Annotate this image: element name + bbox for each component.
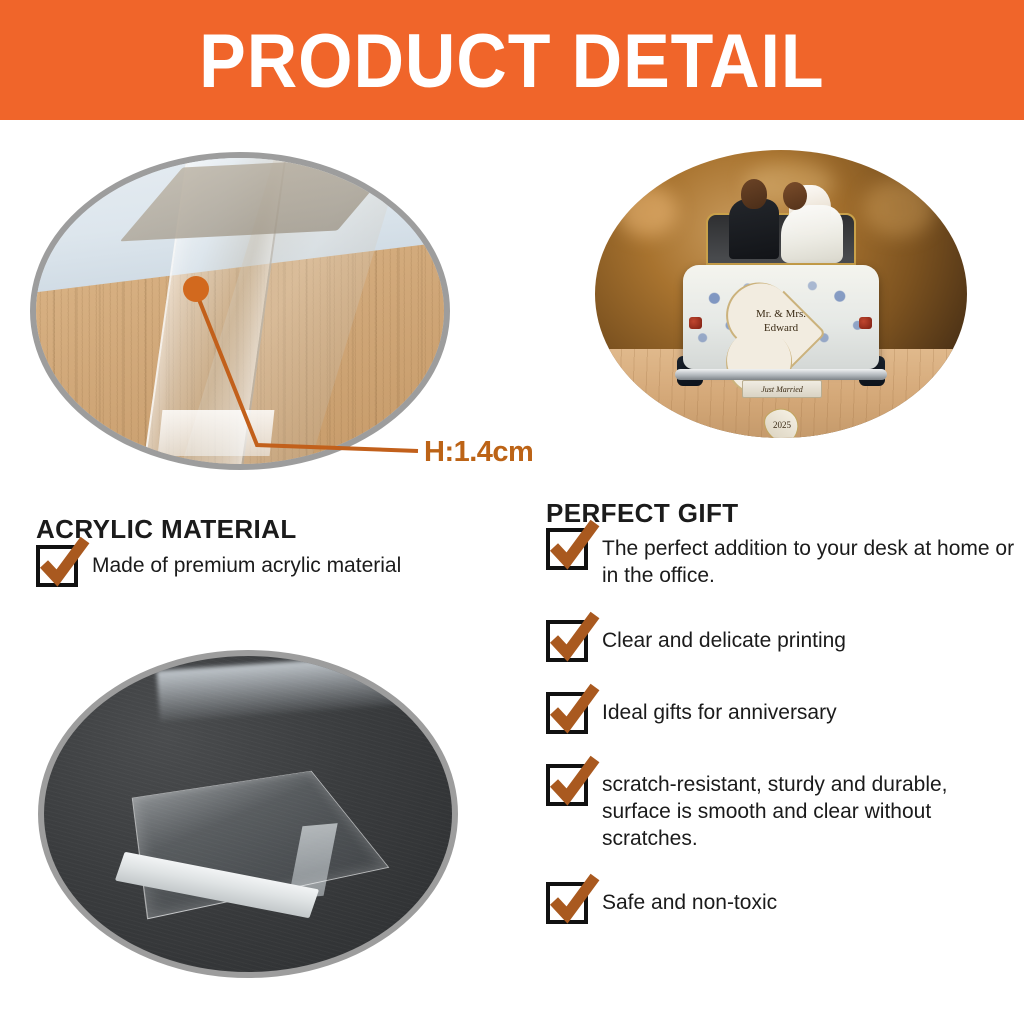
list-item-label: The perfect addition to your desk at hom… [602, 528, 1016, 590]
list-item-label: scratch-resistant, sturdy and durable, s… [602, 764, 1016, 853]
checkmark-icon [546, 882, 588, 924]
header-banner: PRODUCT DETAIL [0, 0, 1024, 120]
charm-year-text: 2025 [773, 420, 791, 430]
list-item-label: Ideal gifts for anniversary [602, 692, 837, 726]
heart-plaque-text: Mr. & Mrs. Edward [735, 308, 827, 336]
car-bumper [675, 369, 887, 380]
list-item: Made of premium acrylic material [36, 545, 536, 587]
list-item: scratch-resistant, sturdy and durable, s… [546, 764, 1016, 853]
list-item: The perfect addition to your desk at hom… [546, 528, 1016, 590]
checkmark-icon [546, 764, 588, 806]
acrylic-block-photo [38, 650, 458, 978]
checkmark-icon [546, 692, 588, 734]
heart-plaque-line1: Mr. & Mrs. [735, 308, 827, 322]
feature-list-perfect-gift: The perfect addition to your desk at hom… [546, 528, 1016, 954]
checkmark-icon [546, 528, 588, 570]
list-item-label: Clear and delicate printing [602, 620, 846, 654]
checkmark-icon [546, 620, 588, 662]
license-plate: Just Married [742, 380, 822, 398]
wedding-car-figurine-photo: Mr. & Mrs. Edward Just Married 2025 [595, 150, 967, 438]
bride-head [783, 182, 807, 210]
list-item: Clear and delicate printing [546, 620, 1016, 662]
list-item: Ideal gifts for anniversary [546, 692, 1016, 734]
acrylic-base-highlight [158, 410, 275, 456]
page-title: PRODUCT DETAIL [199, 24, 824, 100]
car-taillight-left [689, 317, 702, 329]
heart-plaque-line2: Edward [735, 322, 827, 336]
list-item: Safe and non-toxic [546, 882, 1016, 924]
feature-list-acrylic-material: Made of premium acrylic material [36, 545, 536, 613]
bokeh-light [617, 185, 677, 237]
bokeh-light [863, 179, 935, 237]
groom-head [741, 179, 767, 209]
list-item-label: Safe and non-toxic [602, 882, 777, 916]
acrylic-edge-photo [30, 152, 450, 470]
checkmark-icon [36, 545, 78, 587]
car-taillight-right [859, 317, 872, 329]
list-item-label: Made of premium acrylic material [92, 545, 401, 579]
